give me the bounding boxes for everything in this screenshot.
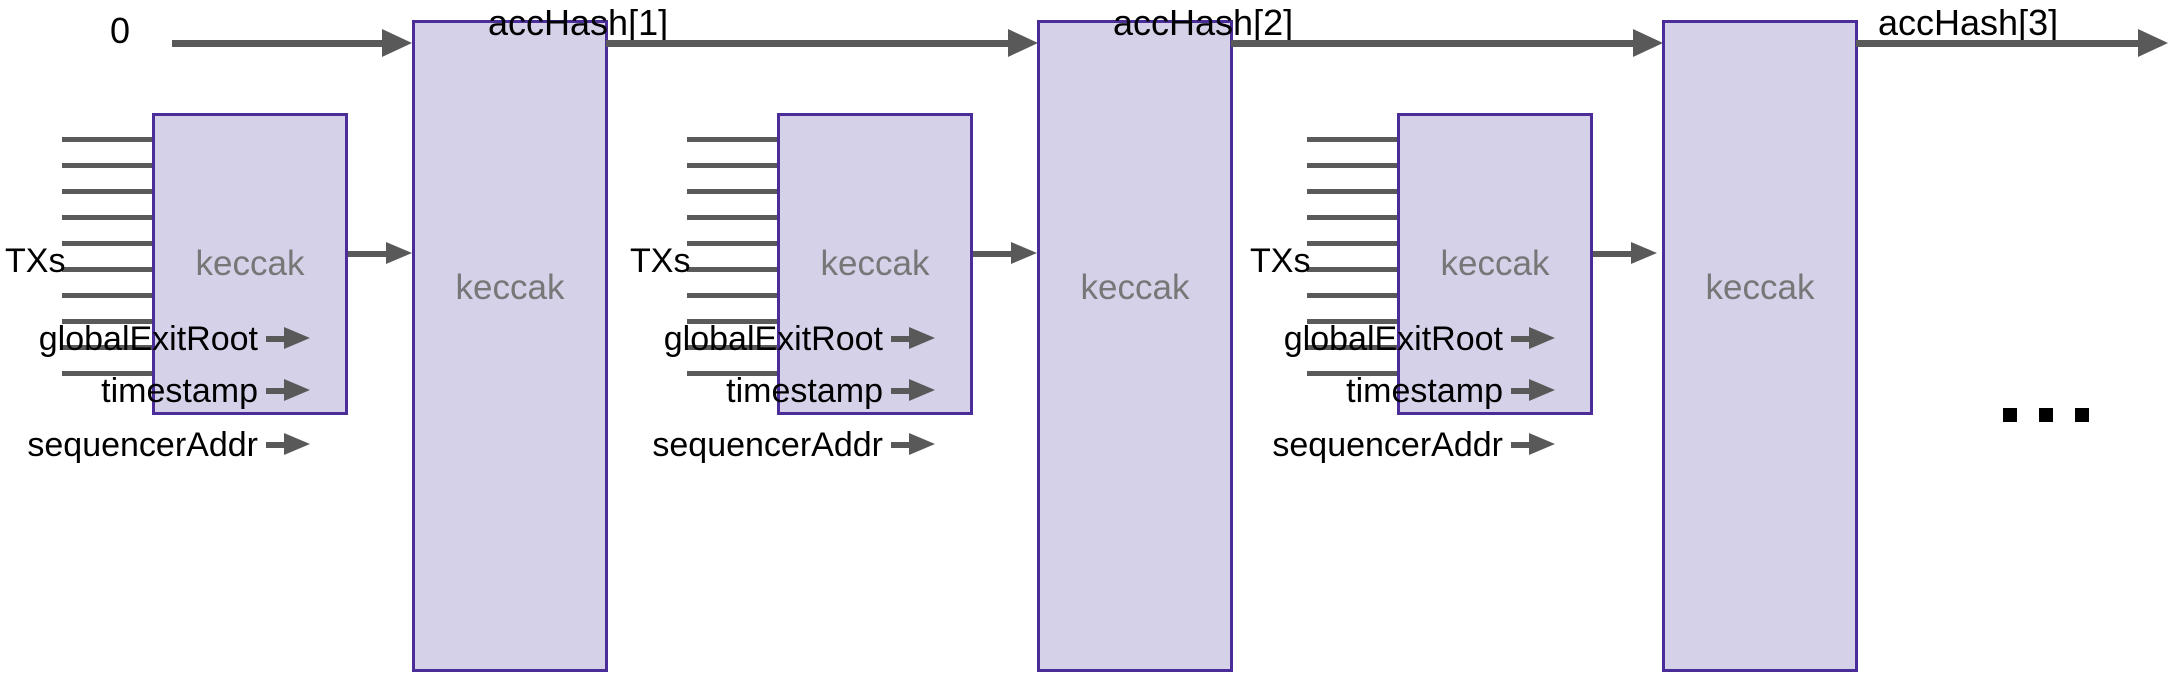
timestamp-label: timestamp <box>625 372 883 411</box>
ellipsis-dot <box>2039 408 2053 422</box>
tx-line <box>687 189 779 194</box>
outer-keccak-label: keccak <box>1665 268 1855 308</box>
inner-to-outer-arrow <box>973 250 1039 258</box>
arrow-shaft <box>348 251 390 257</box>
arrow-head <box>284 433 310 455</box>
inner-keccak-box[interactable]: keccak <box>1397 113 1593 415</box>
tx-line <box>62 293 154 298</box>
global-exit-root-label: globalExitRoot <box>625 320 883 359</box>
tx-line <box>1307 163 1399 168</box>
timestamp-label: timestamp <box>1245 372 1503 411</box>
acchash-2-arrow <box>1231 38 1663 48</box>
arrow-head <box>909 327 935 349</box>
tx-line <box>1307 137 1399 142</box>
inner-keccak-box[interactable]: keccak <box>152 113 348 415</box>
tx-line <box>1307 267 1399 272</box>
seed-arrow <box>172 38 412 48</box>
tx-line <box>1307 189 1399 194</box>
sequencer-addr-arrow <box>266 441 416 449</box>
outer-keccak-label: keccak <box>415 268 605 308</box>
arrow-head <box>284 379 310 401</box>
seed-arrow-head <box>382 29 412 57</box>
global-exit-root-arrow <box>266 335 416 343</box>
outer-keccak-box[interactable]: keccak <box>1037 20 1233 672</box>
sequencer-addr-label: sequencerAddr <box>625 426 883 465</box>
arrow-head <box>284 327 310 349</box>
outer-keccak-label: keccak <box>1040 268 1230 308</box>
tx-line <box>687 215 779 220</box>
arrow-head <box>909 379 935 401</box>
tx-line <box>687 241 779 246</box>
sequencer-addr-label: sequencerAddr <box>1245 426 1503 465</box>
inner-keccak-label: keccak <box>155 244 345 284</box>
outer-keccak-box[interactable]: keccak <box>1662 20 1858 672</box>
tx-line <box>62 189 154 194</box>
inner-to-outer-arrow <box>348 250 414 258</box>
inner-keccak-label: keccak <box>1400 244 1590 284</box>
diagram-canvas: 0 TXs keccak keccak globalExitRoot times… <box>0 0 2168 684</box>
arrow-head <box>909 433 935 455</box>
arrow-shaft <box>973 251 1015 257</box>
tx-line <box>1307 241 1399 246</box>
inner-to-outer-arrow <box>1593 250 1659 258</box>
seed-arrow-shaft <box>172 40 384 47</box>
global-exit-root-label: globalExitRoot <box>1245 320 1503 359</box>
arrow-head <box>1008 29 1038 57</box>
arrow-head <box>1633 29 1663 57</box>
sequencer-addr-label: sequencerAddr <box>0 426 258 465</box>
global-exit-root-arrow <box>1511 335 1661 343</box>
tx-line <box>1307 215 1399 220</box>
arrow-head <box>1529 327 1555 349</box>
outer-keccak-box[interactable]: keccak <box>412 20 608 672</box>
arrow-shaft <box>1231 40 1635 47</box>
txs-label: TXs <box>630 242 690 281</box>
txs-label: TXs <box>1250 242 1310 281</box>
timestamp-arrow <box>266 387 416 395</box>
tx-line <box>62 163 154 168</box>
arrow-head <box>1529 379 1555 401</box>
inner-keccak-label: keccak <box>780 244 970 284</box>
arrow-shaft <box>606 40 1010 47</box>
timestamp-arrow <box>891 387 1041 395</box>
arrow-head <box>1011 242 1037 264</box>
arrow-shaft <box>1856 40 2140 47</box>
arrow-shaft <box>1593 251 1635 257</box>
tx-line <box>62 267 154 272</box>
timestamp-arrow <box>1511 387 1661 395</box>
acchash-3-arrow <box>1856 38 2168 48</box>
inner-keccak-box[interactable]: keccak <box>777 113 973 415</box>
tx-line <box>687 293 779 298</box>
arrow-head <box>386 242 412 264</box>
acchash-1-arrow <box>606 38 1038 48</box>
tx-line <box>687 137 779 142</box>
tx-line <box>687 267 779 272</box>
tx-line <box>62 137 154 142</box>
arrow-head <box>1529 433 1555 455</box>
arrow-head <box>2138 29 2168 57</box>
txs-label: TXs <box>5 242 65 281</box>
ellipsis-dot <box>2003 408 2017 422</box>
arrow-head <box>1631 242 1657 264</box>
sequencer-addr-arrow <box>891 441 1041 449</box>
global-exit-root-label: globalExitRoot <box>0 320 258 359</box>
tx-line <box>1307 293 1399 298</box>
continuation-ellipsis <box>2003 408 2089 422</box>
seed-value-label: 0 <box>110 10 130 52</box>
ellipsis-dot <box>2075 408 2089 422</box>
sequencer-addr-arrow <box>1511 441 1661 449</box>
tx-line <box>62 215 154 220</box>
tx-line <box>62 241 154 246</box>
timestamp-label: timestamp <box>0 372 258 411</box>
global-exit-root-arrow <box>891 335 1041 343</box>
tx-line <box>687 163 779 168</box>
